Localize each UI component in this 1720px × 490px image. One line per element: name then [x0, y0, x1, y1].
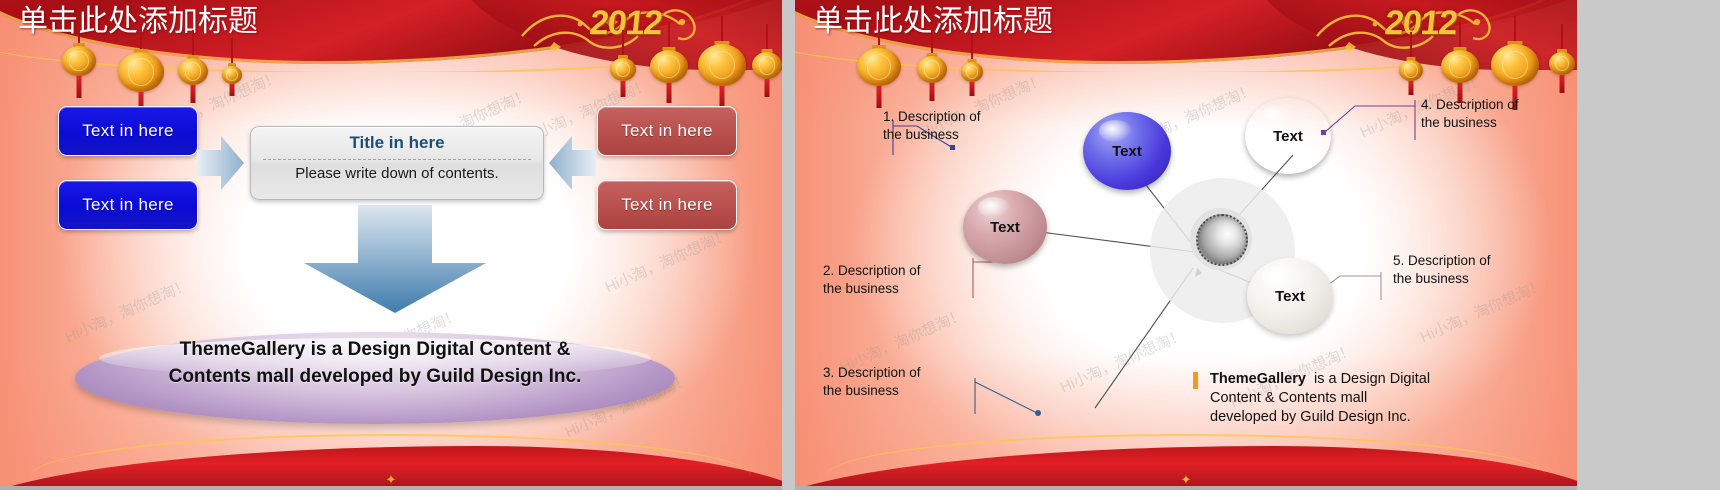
arrow-down-icon [300, 205, 490, 315]
bubble-cream[interactable]: Text [1247, 258, 1333, 334]
description-1-line-2: the business [883, 126, 1013, 144]
bottom-red-footer: ✦ [0, 432, 782, 490]
description-4-line-2: the business [1421, 114, 1561, 132]
right-text-box-1-label: Text in here [621, 121, 712, 141]
right-text-box-2[interactable]: Text in here [597, 180, 737, 230]
bottom-note-brand: ThemeGallery [1210, 371, 1306, 387]
bubble-highlight [1262, 266, 1295, 287]
center-core-sphere[interactable] [1196, 214, 1248, 266]
slide-bottom-edge [0, 486, 782, 490]
orange-accent-bar [1193, 372, 1198, 389]
bubble-rose[interactable]: Text [963, 190, 1047, 264]
left-text-box-2[interactable]: Text in here [58, 180, 198, 230]
bubble-cream-label: Text [1275, 288, 1305, 305]
bottom-red-footer: ✦ [795, 432, 1577, 490]
lantern-decoration [698, 44, 746, 86]
description-5-line-2: the business [1393, 270, 1533, 288]
left-text-box-1[interactable]: Text in here [58, 106, 198, 156]
bubble-blue-label: Text [1112, 143, 1142, 160]
description-5: 5. Description of the business [1393, 252, 1533, 288]
lantern-decoration [650, 50, 688, 83]
slide-deck-stage: Hi小淘，淘你想淘！ Hi小淘，淘你想淘！ Hi小淘，淘你想淘！ Hi小淘，淘你… [0, 0, 1720, 490]
lantern-decoration [178, 58, 208, 85]
bubble-purple-label: Text [1273, 128, 1303, 145]
bubble-blue[interactable]: Text [1083, 112, 1171, 190]
bubble-highlight [1260, 106, 1293, 127]
right-text-box-1[interactable]: Text in here [597, 106, 737, 156]
description-1-line-1: 1. Description of [883, 108, 1013, 126]
left-text-box-1-label: Text in here [82, 121, 173, 141]
description-3-line-2: the business [823, 382, 953, 400]
left-text-box-2-label: Text in here [82, 195, 173, 215]
description-2-line-1: 2. Description of [823, 262, 953, 280]
bottom-banner-text: ThemeGallery is a Design Digital Content… [75, 336, 675, 390]
description-1: 1. Description of the business [883, 108, 1013, 144]
right-text-box-2-label: Text in here [621, 195, 712, 215]
slide-bottom-edge [795, 486, 1577, 490]
center-card[interactable]: Title in here Please write down of conte… [250, 126, 544, 200]
center-card-body: Please write down of contents. [251, 165, 543, 182]
lantern-decoration [610, 58, 636, 81]
bottom-note-line-1: is a Design Digital [1314, 371, 1430, 387]
bubble-highlight [1099, 120, 1132, 142]
description-4-line-1: 4. Description of [1421, 96, 1561, 114]
description-3-line-1: 3. Description of [823, 364, 953, 382]
slide-2[interactable]: Hi小淘，淘你想淘！ Hi小淘，淘你想淘！ Hi小淘，淘你想淘！ Hi小淘，淘你… [795, 0, 1577, 490]
footer-gold-arc [826, 434, 1545, 476]
bubble-rose-label: Text [990, 219, 1020, 236]
page-title: 单击此处添加标题 [18, 2, 258, 42]
description-3: 3. Description of the business [823, 364, 953, 400]
description-2-line-2: the business [823, 280, 953, 298]
description-5-line-1: 5. Description of [1393, 252, 1533, 270]
center-card-title: Title in here [251, 133, 543, 153]
arrow-right-icon [197, 134, 245, 192]
bubble-highlight [978, 197, 1010, 218]
footer-gold-arc [31, 434, 750, 476]
lantern-decoration [752, 52, 782, 79]
description-2: 2. Description of the business [823, 262, 953, 298]
description-4: 4. Description of the business [1421, 96, 1561, 132]
arrow-left-icon [548, 134, 596, 192]
lantern-decoration [222, 66, 242, 84]
lantern-decoration [118, 52, 164, 92]
bottom-banner-line-2: Contents mall developed by Guild Design … [75, 363, 675, 390]
slide-separator [782, 0, 795, 490]
bottom-banner-line-1: ThemeGallery is a Design Digital Content… [75, 336, 675, 363]
center-card-divider [263, 159, 531, 160]
bottom-note-line-2: Content & Contents mall [1210, 389, 1520, 408]
bottom-note: ThemeGallery is a Design Digital Content… [1210, 370, 1520, 427]
lantern-decoration [62, 46, 96, 76]
bottom-note-line-3: developed by Guild Design Inc. [1210, 408, 1520, 427]
slide-1[interactable]: Hi小淘，淘你想淘！ Hi小淘，淘你想淘！ Hi小淘，淘你想淘！ Hi小淘，淘你… [0, 0, 782, 490]
bubble-purple[interactable]: Text [1245, 98, 1331, 174]
